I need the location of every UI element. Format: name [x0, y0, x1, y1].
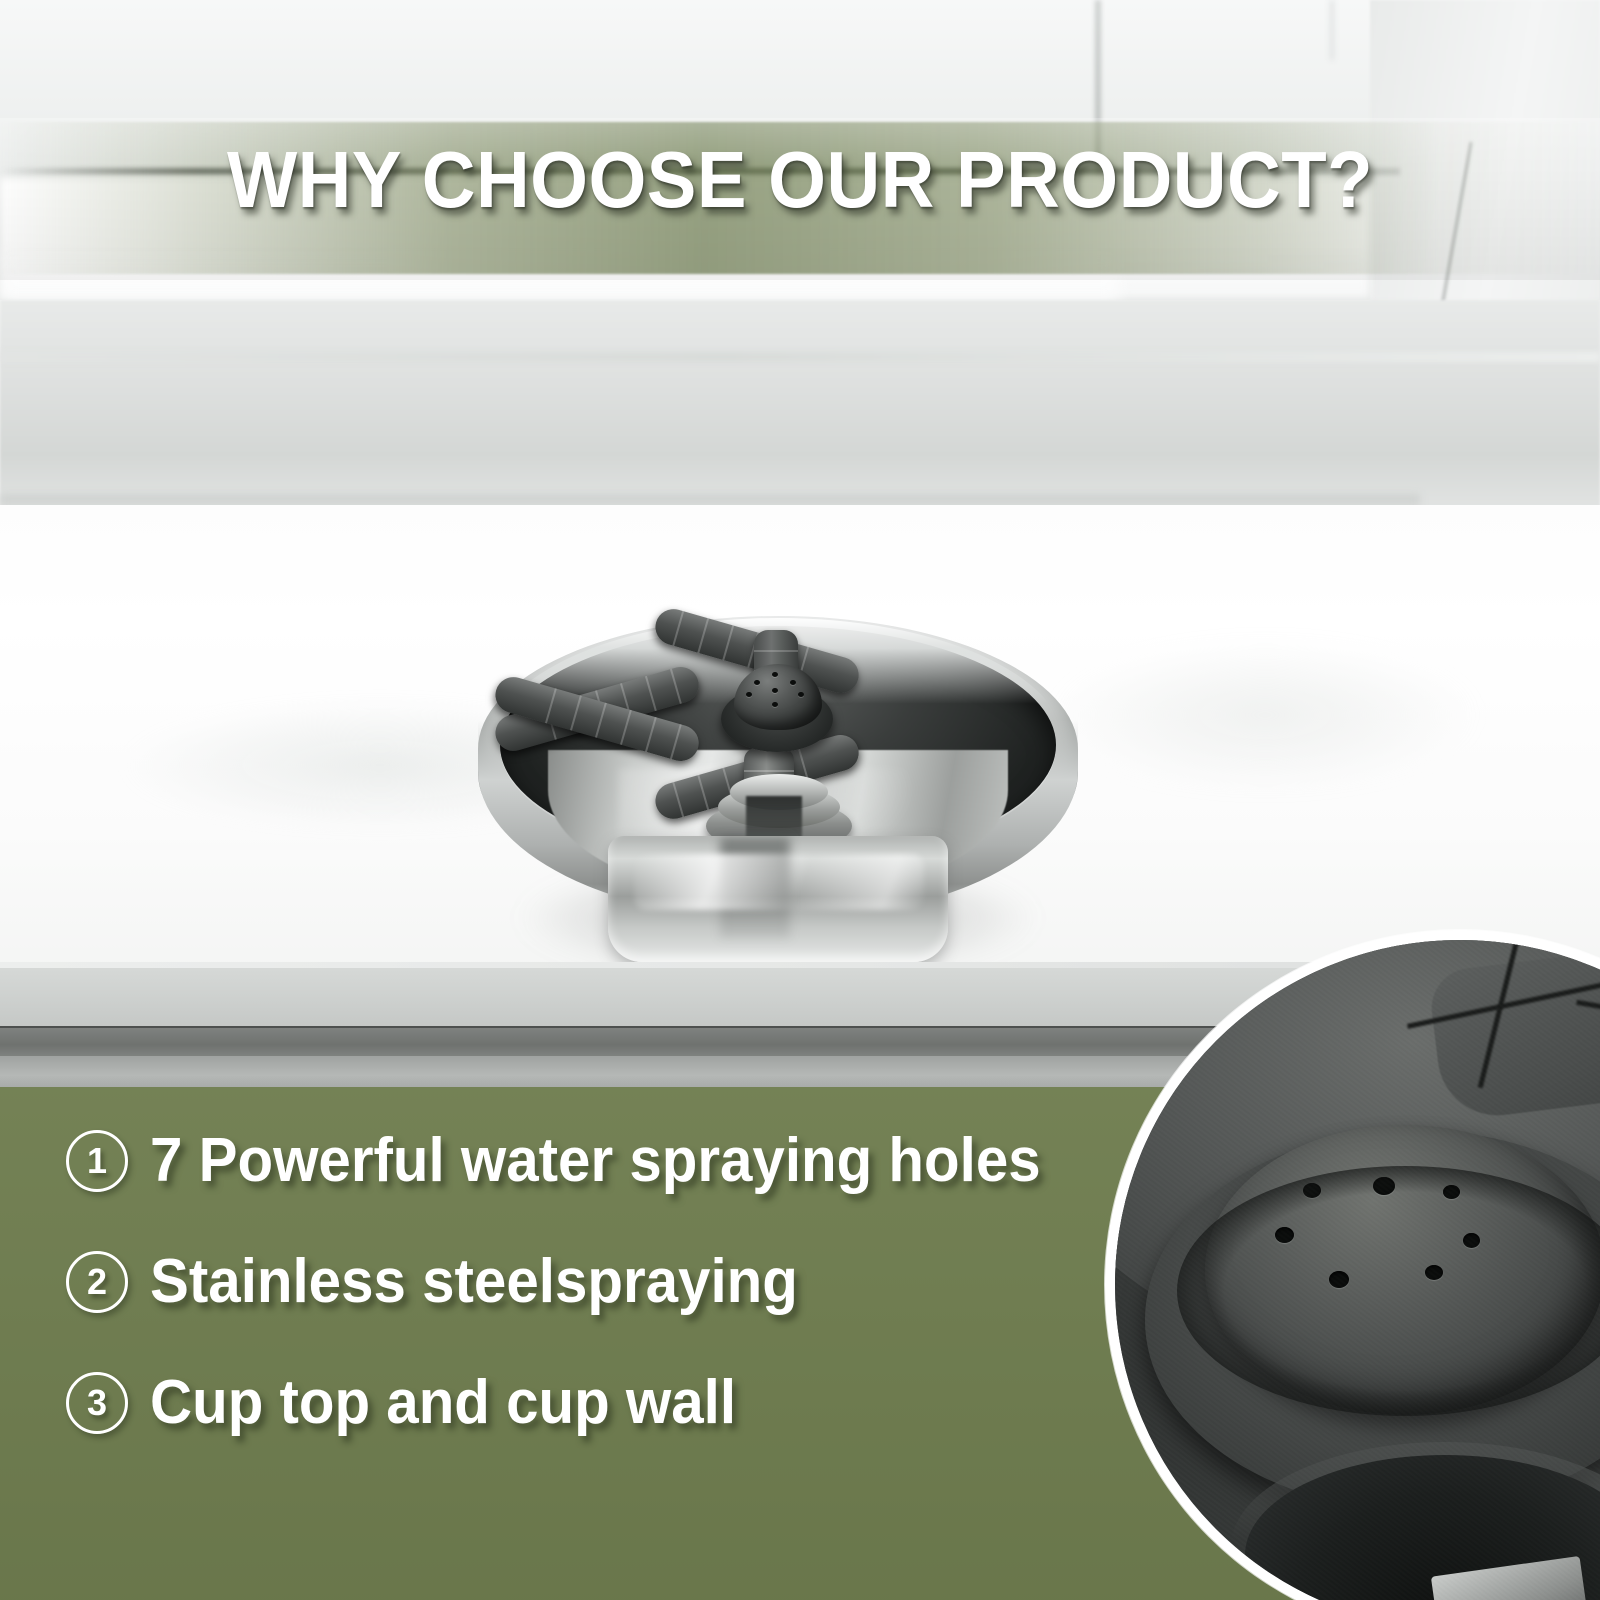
circled-number-icon: 3 [66, 1372, 128, 1434]
spout-highlight [634, 854, 924, 910]
circled-number-icon: 2 [66, 1251, 128, 1313]
product-photo-area: WHY CHOOSE OUR PRODUCT? [0, 0, 1600, 1090]
photo-grain-overlay [1105, 930, 1600, 1600]
feature-label: 7 Powerful water spraying holes [150, 1128, 1041, 1193]
window-frame-seam-secondary [1330, 0, 1334, 60]
sill-top-edge [0, 352, 1600, 362]
glass-rinser-product [468, 600, 1088, 1000]
feature-label: Stainless steelspraying [150, 1249, 798, 1314]
list-item: 3 Cup top and cup wall [66, 1370, 1146, 1435]
circled-number-icon: 1 [66, 1130, 128, 1192]
feature-label: Cup top and cup wall [150, 1370, 736, 1435]
list-item: 1 7 Powerful water spraying holes [66, 1128, 1146, 1193]
window-sill [0, 300, 1600, 515]
feature-list: 1 7 Powerful water spraying holes 2 Stai… [66, 1128, 1146, 1435]
infographic-root: WHY CHOOSE OUR PRODUCT? 1 7 Powerful wat… [0, 0, 1600, 1600]
closeup-photo [1105, 930, 1600, 1600]
list-item: 2 Stainless steelspraying [66, 1249, 1146, 1314]
page-title: WHY CHOOSE OUR PRODUCT? [56, 133, 1544, 227]
closeup-inset-circle [1105, 930, 1600, 1600]
countertop-veining-right [1050, 640, 1480, 790]
